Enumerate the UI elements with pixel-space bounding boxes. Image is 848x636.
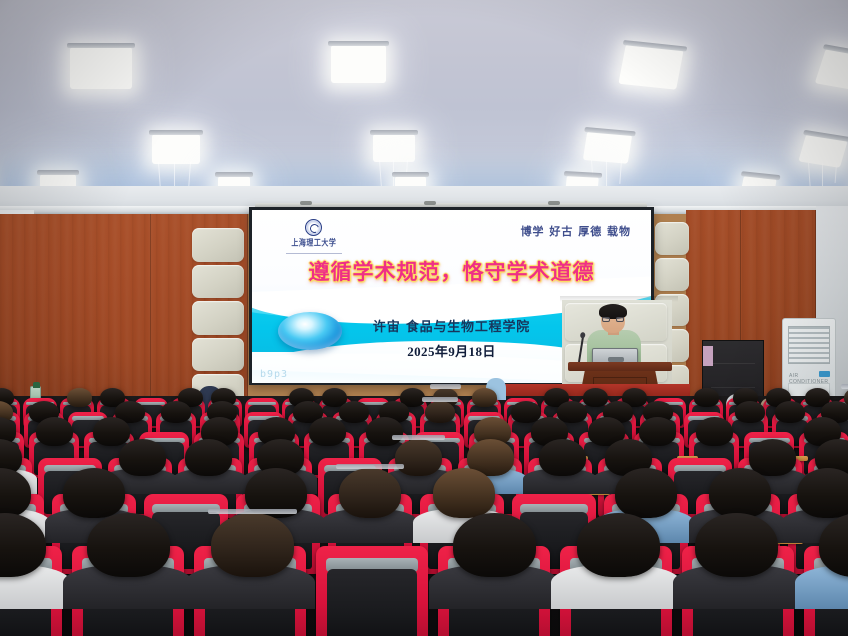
attendee-head <box>339 401 369 423</box>
attendee-head <box>366 417 403 446</box>
attendee-head <box>583 388 608 407</box>
logo-underline <box>286 253 342 254</box>
light-wire <box>822 163 823 187</box>
attendee-head <box>615 468 677 518</box>
ac-grille-icon <box>788 326 830 364</box>
auditorium-seat <box>316 546 428 636</box>
speaker-glasses-icon <box>602 317 624 322</box>
lectern-top <box>568 362 672 371</box>
attendee-head <box>433 468 495 518</box>
attendee-head <box>425 401 455 423</box>
attendee-head <box>453 513 536 577</box>
university-emblem-icon <box>305 219 322 236</box>
attendee-head <box>472 388 497 407</box>
attendee-head <box>639 417 676 446</box>
ceiling-light <box>583 131 632 164</box>
rack-label <box>703 346 713 366</box>
attendee-head <box>577 513 660 577</box>
ceiling-light <box>815 49 848 92</box>
attendee-head <box>395 439 442 476</box>
attendee-head <box>211 513 294 577</box>
university-motto: 博学 好古 厚德 载物 <box>521 223 632 239</box>
screen-bracket-dot <box>300 201 312 205</box>
attendee-head <box>185 439 232 476</box>
lecture-hall-photo: 上海理工大学 博学 好古 厚德 载物 遵循学术规范，恪守学术道德 许宙 食品与生… <box>0 0 848 636</box>
slide-watermark: b9p3 <box>260 369 288 380</box>
ceiling-light <box>70 47 132 89</box>
attendee-head <box>539 439 586 476</box>
screen-bracket-dot <box>424 201 436 205</box>
attendee-head <box>63 468 125 518</box>
attendee-head <box>161 401 191 423</box>
attendee-head <box>119 439 166 476</box>
attendee-head <box>735 401 765 423</box>
ceiling-light <box>152 134 200 164</box>
attendee-head <box>695 513 778 577</box>
attendee-head <box>694 388 719 407</box>
light-wire <box>606 160 607 188</box>
ceiling-light <box>331 45 386 83</box>
slide-title: 遵循学术规范，恪守学术道德 <box>252 256 651 286</box>
attendee-head <box>709 468 771 518</box>
attendee-head <box>696 417 733 446</box>
attendee-head <box>309 417 346 446</box>
ac-brand-badge <box>819 371 830 377</box>
attendee-head <box>749 439 796 476</box>
attendee-head <box>67 388 92 407</box>
acoustic-panels-left <box>192 228 244 408</box>
university-name: 上海理工大学 <box>291 236 336 249</box>
ceiling-light <box>373 134 415 162</box>
attendee-head <box>775 401 805 423</box>
screen-bracket-dot <box>548 201 560 205</box>
ceiling <box>0 0 848 215</box>
seat-back-pad <box>327 569 417 636</box>
attendee-head <box>93 417 130 446</box>
attendee-head <box>87 513 170 577</box>
attendee-head <box>339 468 401 518</box>
attendee-head <box>36 417 73 446</box>
ceiling-light <box>618 44 683 89</box>
attendee-head <box>797 468 848 518</box>
